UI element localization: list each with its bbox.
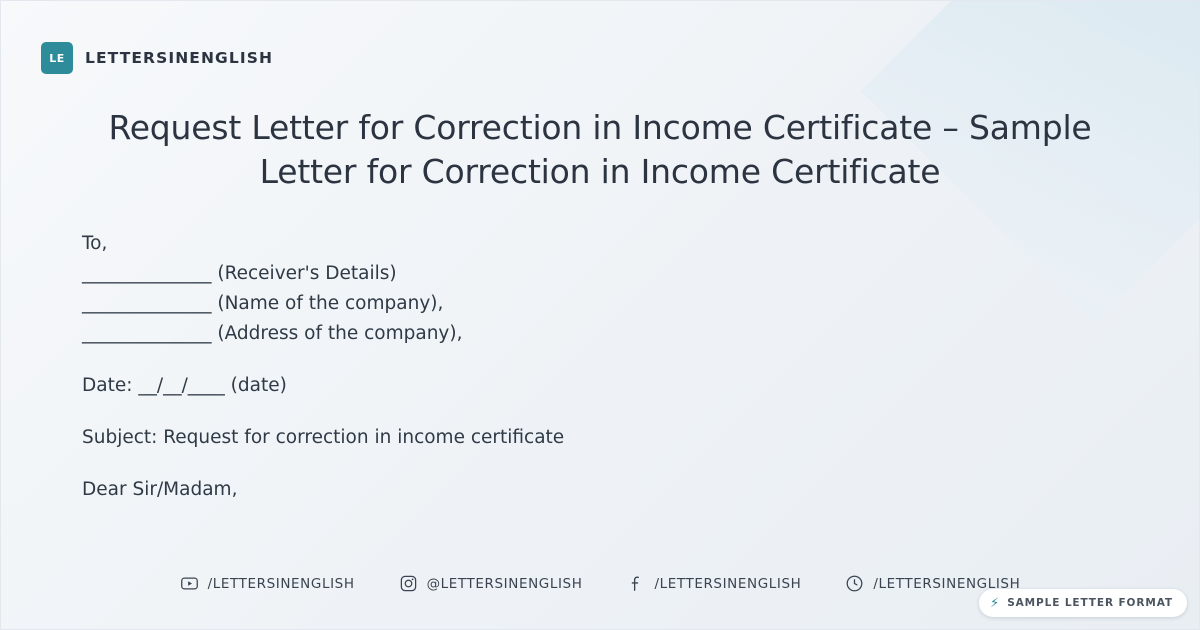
page-canvas: LE LETTERSINENGLISH Request Letter for C… bbox=[0, 0, 1200, 630]
social-link-youtube[interactable]: /LETTERSINENGLISH bbox=[180, 574, 355, 593]
pinterest-icon bbox=[845, 574, 864, 593]
brand-monogram-icon: LE bbox=[41, 42, 73, 74]
brand-logo[interactable]: LE LETTERSINENGLISH bbox=[41, 42, 273, 74]
bolt-icon: ⚡ bbox=[990, 597, 1000, 610]
youtube-icon bbox=[180, 574, 199, 593]
date-line: Date: __/__/____ (date) bbox=[82, 371, 1119, 401]
subject-line: Subject: Request for correction in incom… bbox=[82, 423, 1119, 453]
social-link-instagram[interactable]: @LETTERSINENGLISH bbox=[399, 574, 583, 593]
salutation-line: Dear Sir/Madam, bbox=[82, 475, 1119, 505]
recipient-block: To, ______________ (Receiver's Details) … bbox=[82, 229, 1119, 349]
social-handle-facebook: /LETTERSINENGLISH bbox=[654, 576, 801, 592]
brand-name-label: LETTERSINENGLISH bbox=[85, 49, 273, 67]
social-handle-youtube: /LETTERSINENGLISH bbox=[208, 576, 355, 592]
social-handle-instagram: @LETTERSINENGLISH bbox=[427, 576, 583, 592]
recipient-line-to: To, bbox=[82, 229, 1119, 259]
recipient-line-company: ______________ (Name of the company), bbox=[82, 289, 1119, 319]
sample-letter-format-badge[interactable]: ⚡ SAMPLE LETTER FORMAT bbox=[979, 589, 1187, 617]
recipient-line-address: ______________ (Address of the company), bbox=[82, 319, 1119, 349]
instagram-icon bbox=[399, 574, 418, 593]
letter-body: To, ______________ (Receiver's Details) … bbox=[82, 229, 1119, 505]
facebook-icon bbox=[626, 574, 645, 593]
badge-label: SAMPLE LETTER FORMAT bbox=[1007, 597, 1173, 609]
page-title: Request Letter for Correction in Income … bbox=[81, 106, 1119, 193]
social-link-facebook[interactable]: /LETTERSINENGLISH bbox=[626, 574, 801, 593]
recipient-line-details: ______________ (Receiver's Details) bbox=[82, 259, 1119, 289]
